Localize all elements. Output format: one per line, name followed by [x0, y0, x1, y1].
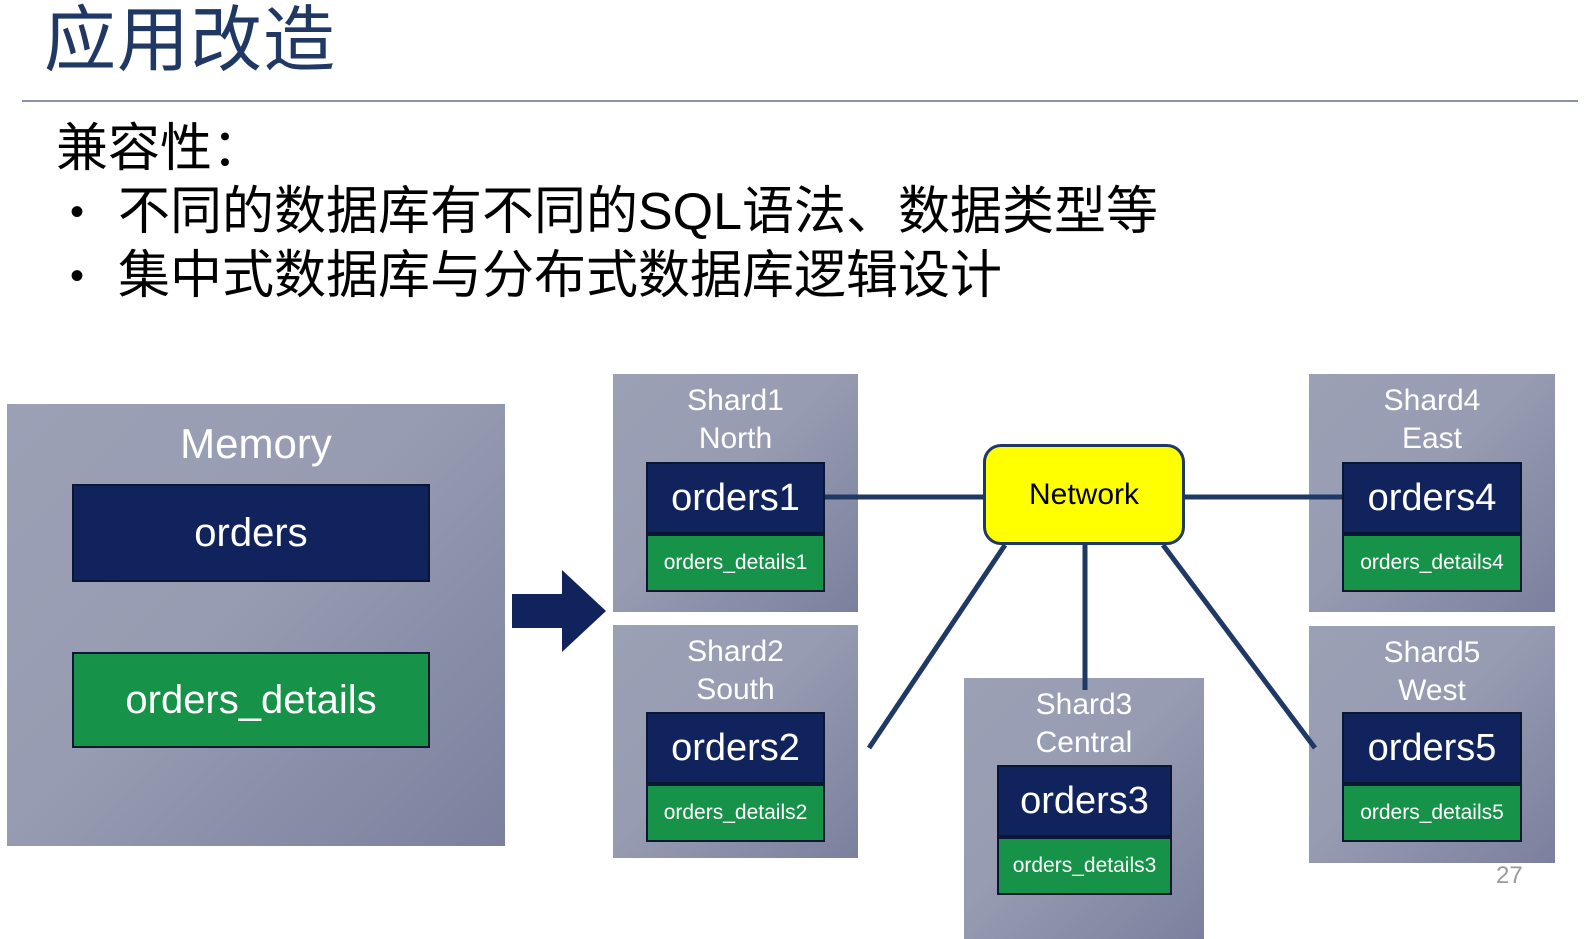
shard1-table-orders-details: orders_details1	[646, 534, 825, 592]
shard5-title: Shard5 West	[1309, 634, 1555, 711]
shard2-table-orders: orders2	[646, 712, 825, 784]
memory-panel: Memory	[7, 404, 505, 846]
shard1-table-orders: orders1	[646, 462, 825, 534]
memory-table-orders-details: orders_details	[72, 652, 430, 748]
shard3-name: Shard3	[964, 686, 1204, 724]
shard4-title: Shard4 East	[1309, 382, 1555, 459]
shard3-region: Central	[964, 724, 1204, 762]
shard4-region: East	[1309, 420, 1555, 458]
shard5-table-orders: orders5	[1342, 712, 1522, 784]
shard4-name: Shard4	[1309, 382, 1555, 420]
page-title: 应用改造	[44, 0, 336, 86]
shard5-region: West	[1309, 672, 1555, 710]
shard2-region: South	[613, 671, 858, 709]
network-node: Network	[983, 444, 1185, 545]
shard1-title: Shard1 North	[613, 382, 858, 459]
bullet-marker-icon: •	[56, 181, 118, 243]
transform-arrow-icon	[512, 566, 606, 656]
shard1-region: North	[613, 420, 858, 458]
body-heading: 兼容性：	[56, 118, 1456, 181]
shard3-table-orders-details: orders_details3	[997, 837, 1172, 895]
shard2-title: Shard2 South	[613, 633, 858, 710]
bullet-text-2: 集中式数据库与分布式数据库逻辑设计	[118, 245, 1002, 308]
bullet-item-1: • 不同的数据库有不同的SQL语法、数据类型等	[56, 181, 1456, 244]
bullet-text-1: 不同的数据库有不同的SQL语法、数据类型等	[118, 181, 1158, 244]
shard5-table-orders-details: orders_details5	[1342, 784, 1522, 842]
bullet-item-2: • 集中式数据库与分布式数据库逻辑设计	[56, 245, 1456, 308]
memory-table-orders: orders	[72, 484, 430, 582]
memory-panel-title: Memory	[7, 420, 505, 468]
body-text-block: 兼容性： • 不同的数据库有不同的SQL语法、数据类型等 • 集中式数据库与分布…	[56, 118, 1456, 308]
shard3-title: Shard3 Central	[964, 686, 1204, 763]
slide-canvas: 应用改造 兼容性： • 不同的数据库有不同的SQL语法、数据类型等 • 集中式数…	[0, 0, 1594, 939]
slide-number: 27	[1496, 862, 1523, 890]
shard4-table-orders: orders4	[1342, 462, 1522, 534]
shard3-table-orders: orders3	[997, 765, 1172, 837]
shard2-name: Shard2	[613, 633, 858, 671]
shard4-table-orders-details: orders_details4	[1342, 534, 1522, 592]
shard1-name: Shard1	[613, 382, 858, 420]
shard5-name: Shard5	[1309, 634, 1555, 672]
title-divider	[22, 100, 1578, 102]
shard2-table-orders-details: orders_details2	[646, 784, 825, 842]
bullet-marker-icon: •	[56, 245, 118, 307]
